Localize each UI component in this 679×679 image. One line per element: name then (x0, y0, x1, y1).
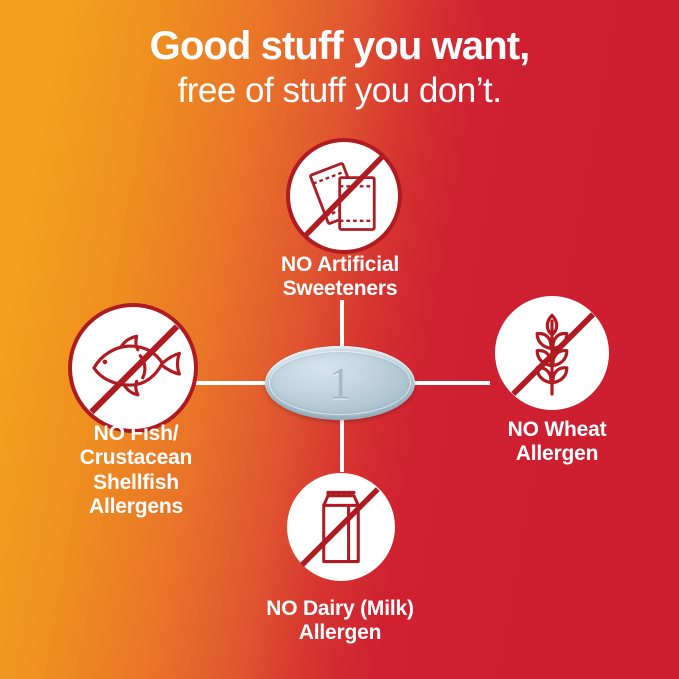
label-no-fish-crustacean-shellfish: NO Fish/ Crustacean Shellfish Allergens (25, 422, 247, 519)
slash-line (302, 489, 378, 565)
label-line: Shellfish (25, 471, 247, 495)
label-line: NO Artificial (230, 253, 450, 277)
slash-line (92, 327, 177, 412)
label-line: Sweeteners (230, 277, 450, 301)
label-line: Allergen (195, 621, 485, 645)
headline-line-1: Good stuff you want, (0, 26, 679, 67)
label-line: NO Fish/ (25, 422, 247, 446)
pill-imprint: 1 (265, 346, 415, 420)
page-title: Good stuff you want, free of stuff you d… (0, 26, 679, 108)
no-artificial-sweeteners-icon (286, 138, 402, 254)
label-line: Allergen (447, 442, 667, 466)
no-wheat-icon (495, 296, 609, 410)
center-pill: 1 (265, 346, 415, 420)
product-benefits-poster: Good stuff you want, free of stuff you d… (0, 0, 679, 679)
no-dairy-milk-icon (287, 473, 395, 581)
no-fish-icon (68, 303, 198, 433)
label-line: Allergens (25, 495, 247, 519)
label-no-artificial-sweeteners: NO Artificial Sweeteners (230, 253, 450, 302)
label-line: NO Wheat (447, 418, 667, 442)
label-no-wheat-allergen: NO Wheat Allergen (447, 418, 667, 467)
headline-line-2: free of stuff you don’t. (0, 73, 679, 109)
label-line: Crustacean (25, 446, 247, 470)
label-line: NO Dairy (Milk) (195, 597, 485, 621)
connector-line-right (404, 381, 490, 385)
label-no-dairy-milk-allergen: NO Dairy (Milk) Allergen (195, 597, 485, 646)
